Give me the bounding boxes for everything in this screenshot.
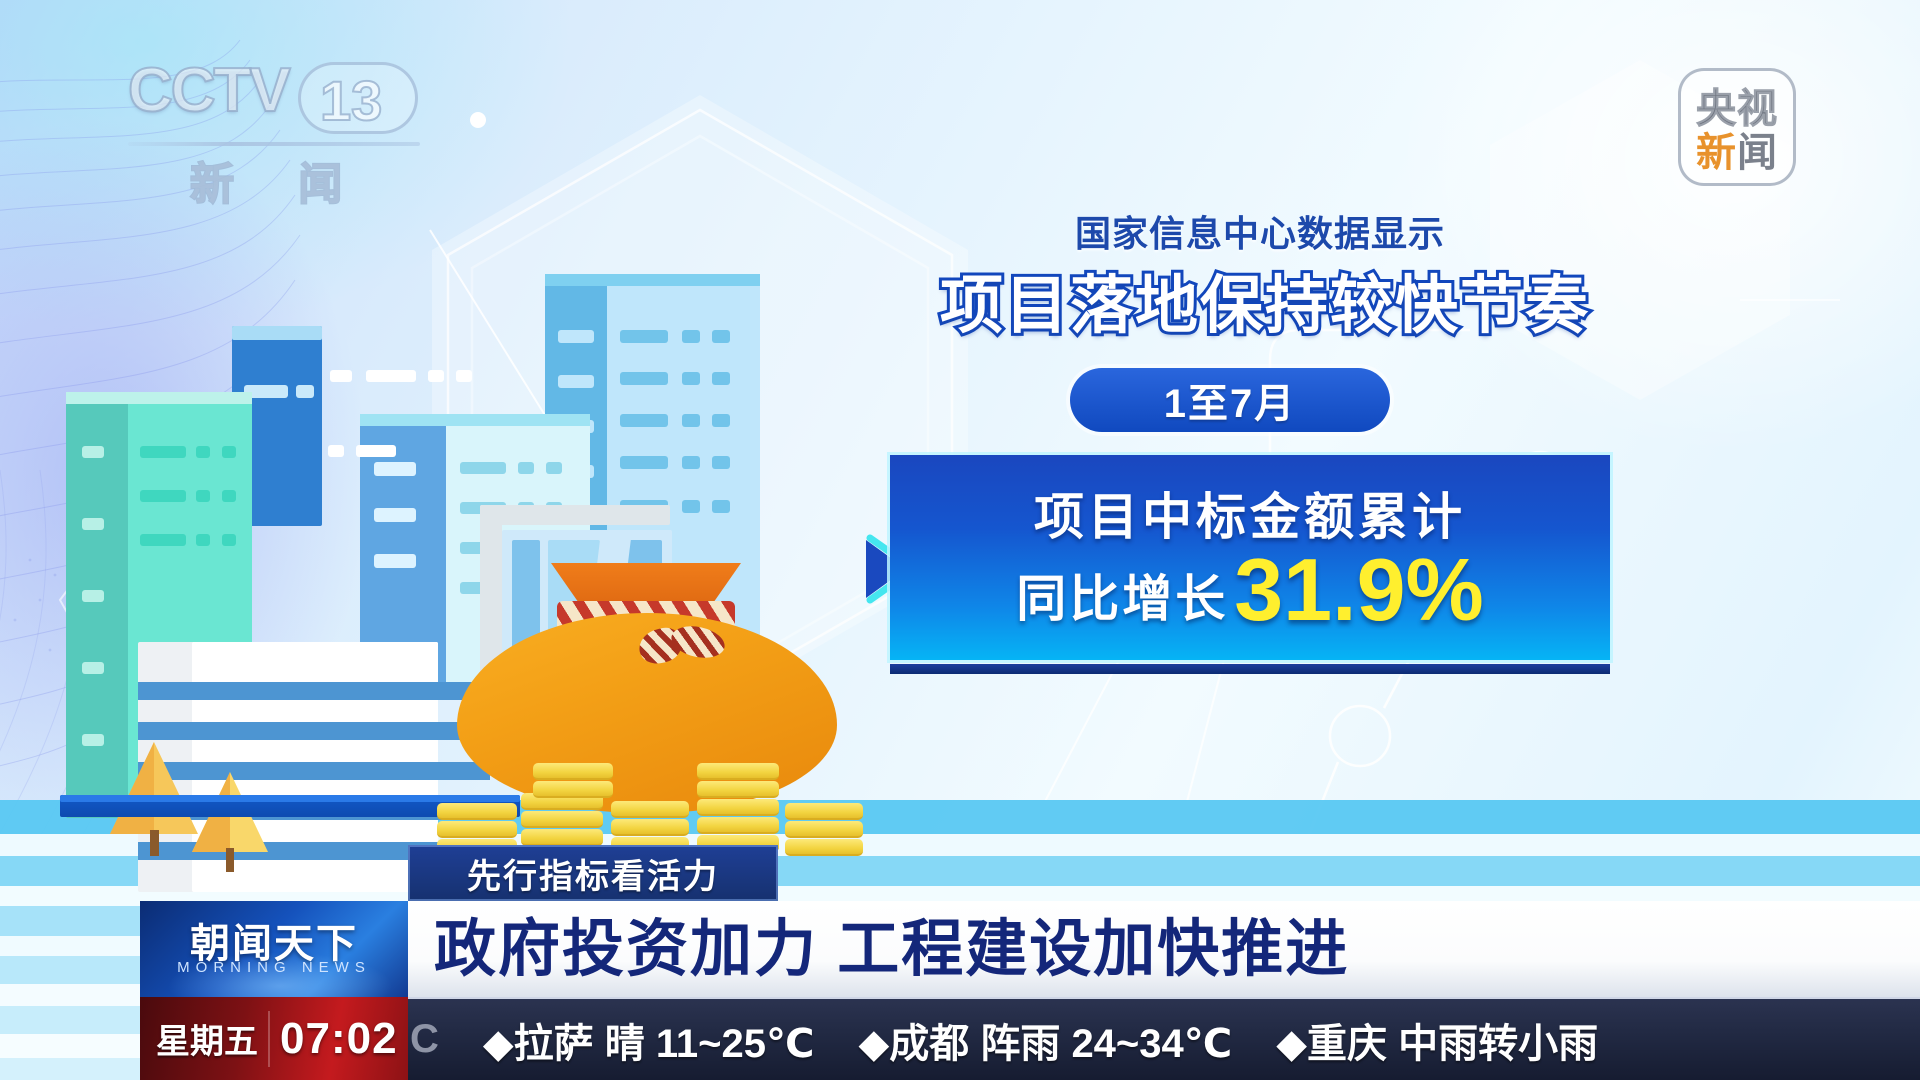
weather-ticker: C ◆拉萨 晴 11~25℃ ◆成都 阵雨 24~34℃ ◆重庆 中雨转小雨 (408, 997, 1920, 1080)
cctv-logo-rule (128, 142, 420, 146)
weekday-label: 星期五 (140, 1014, 258, 1063)
stat-label: 项目中标金额累计 (890, 477, 1610, 549)
broadcast-screen: CCTV 13 新 闻 央视 新闻 国家信息中心数据显示 项目落地保持较快节奏 … (0, 0, 1920, 1080)
infographic-headline: 项目落地保持较快节奏 (870, 255, 1660, 346)
app-logo-row2: 新闻 (1681, 133, 1793, 173)
weather-ticker-item: ◆重庆 中雨转小雨 (1232, 1011, 1598, 1069)
lower-third-kicker: 先行指标看活力 (408, 845, 778, 901)
program-name-en: MORNING NEWS (140, 959, 408, 976)
infographic-source-line: 国家信息中心数据显示 (980, 205, 1540, 257)
stat-banner: 项目中标金额累计 同比增长 31.9% (890, 455, 1610, 660)
cctv13-logo: CCTV 13 新 闻 (128, 60, 418, 180)
lower-third-headline: 政府投资加力 工程建设加快推进 (408, 919, 1349, 981)
period-badge-label: 1至7月 (1164, 371, 1297, 429)
app-logo-xin: 新 (1696, 131, 1737, 175)
clock-time: 07:02 (280, 1014, 398, 1064)
weather-ticker-item: ◆成都 阵雨 24~34℃ (814, 1011, 1232, 1069)
clock-bar: 星期五 07:02 (140, 997, 408, 1080)
weather-ticker-leading-unit: C (408, 1017, 439, 1062)
cctv-news-app-logo: 央视 新闻 (1678, 68, 1796, 186)
program-logo: 朝闻天下 MORNING NEWS (140, 901, 408, 997)
app-logo-row1: 央视 (1681, 89, 1793, 129)
cctv-channel-number: 13 (320, 68, 382, 133)
lower-third-headline-bar: 政府投资加力 工程建设加快推进 (408, 901, 1920, 997)
stat-banner-underline (890, 664, 1610, 674)
weather-ticker-item: ◆拉萨 晴 11~25℃ (439, 1011, 815, 1069)
stat-prefix: 同比增长 (1016, 559, 1228, 631)
lower-third-kicker-label: 先行指标看活力 (467, 849, 719, 898)
period-badge: 1至7月 (1070, 368, 1390, 432)
stat-line: 同比增长 31.9% (890, 550, 1610, 631)
app-logo-wen: 闻 (1737, 131, 1778, 175)
stat-value: 31.9% (1234, 550, 1484, 631)
cctv-logo-subtitle: 新 闻 (190, 148, 368, 212)
clock-divider (268, 1011, 270, 1067)
money-bag-illustration (445, 545, 865, 835)
